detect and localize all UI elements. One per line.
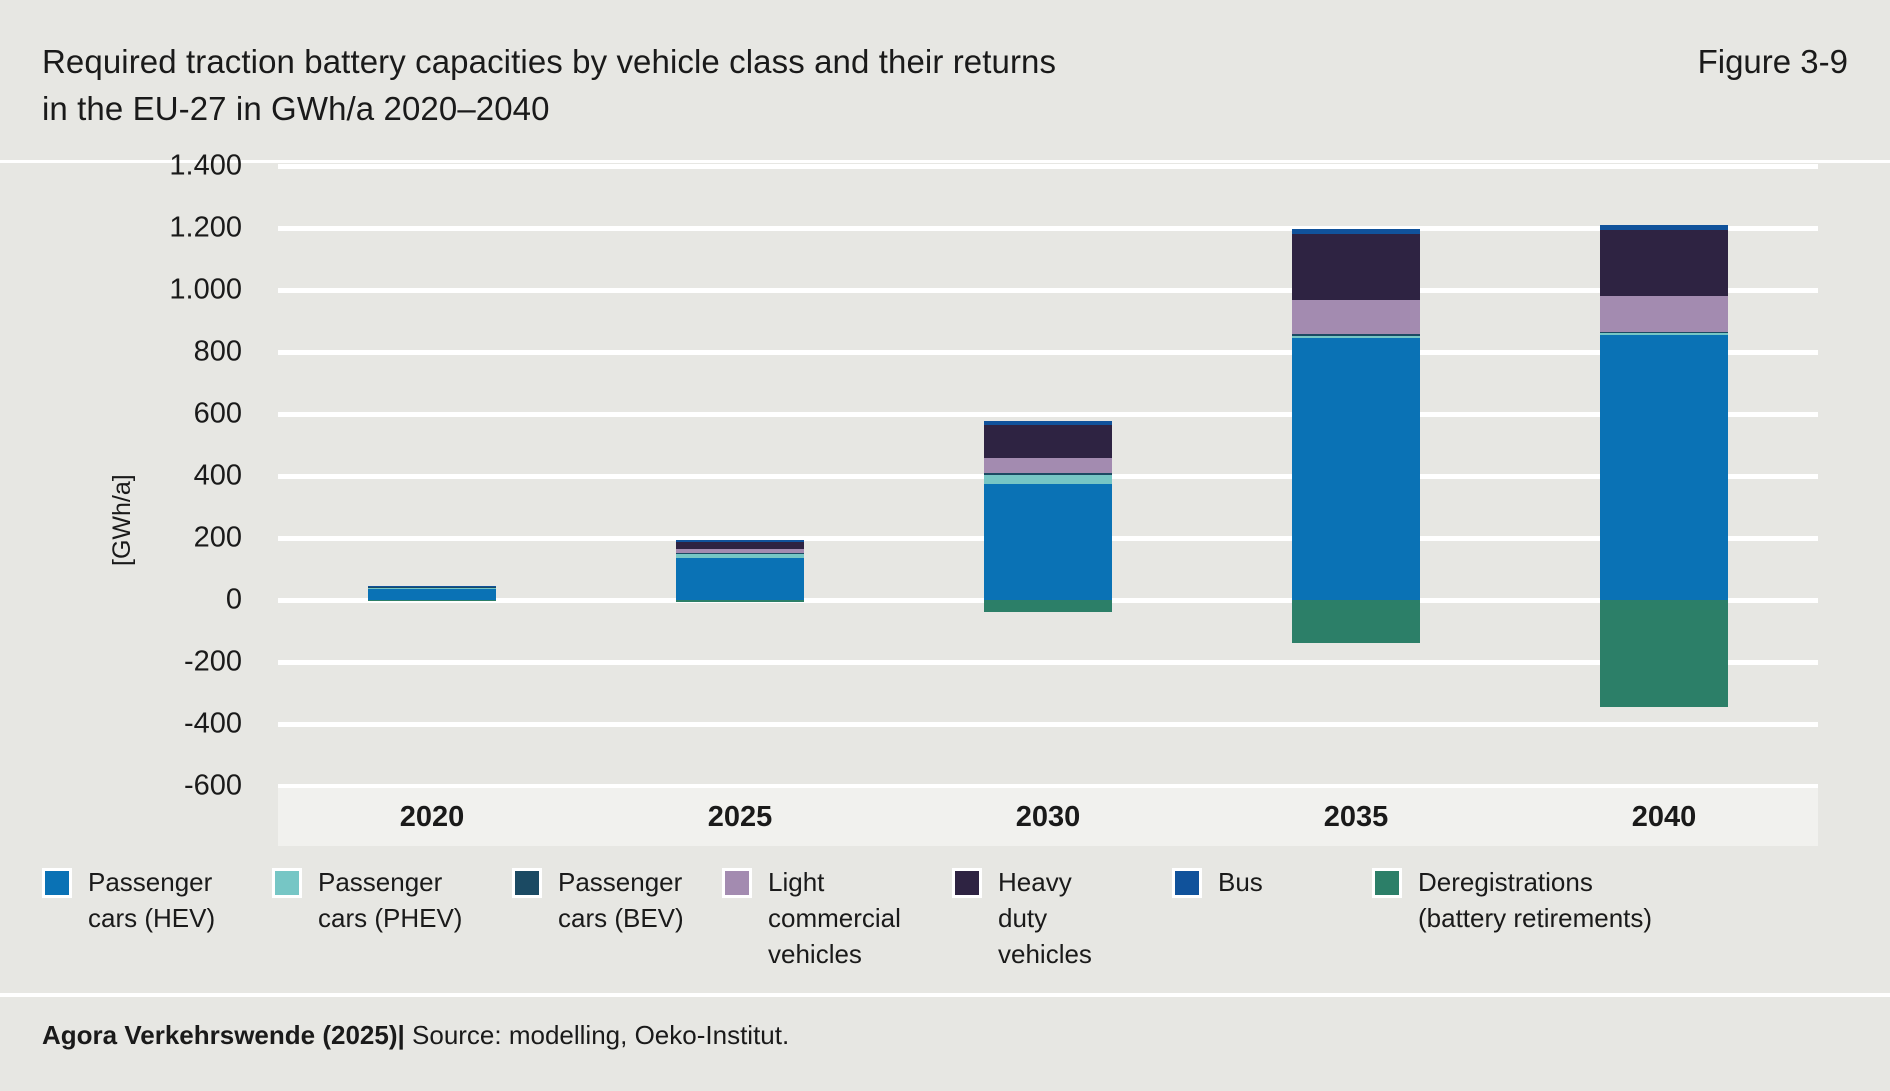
bar-segment	[368, 600, 496, 601]
bar-segment	[984, 421, 1112, 425]
y-tick-label: 1.200	[169, 212, 242, 245]
y-axis-ticks: 1.4001.2001.0008006004002000-200-400-600	[0, 166, 278, 786]
figure-number: Figure 3-9	[1698, 38, 1848, 85]
x-tick-label-2040: 2040	[1564, 801, 1764, 834]
bar-segment	[1600, 296, 1728, 332]
bar-group-2030	[984, 166, 1112, 786]
bar-group-2025	[676, 166, 804, 786]
source-separator: |	[398, 1020, 405, 1050]
bar-segment	[368, 587, 496, 588]
bar-segment	[368, 589, 496, 600]
y-tick-label: -600	[184, 770, 242, 803]
y-tick-label: -400	[184, 708, 242, 741]
x-axis: 20202025203020352040	[278, 788, 1818, 846]
y-tick-label: 1.400	[169, 150, 242, 183]
bar-segment	[1600, 332, 1728, 333]
bar-segment	[1600, 600, 1728, 707]
bar-segment	[984, 458, 1112, 474]
figure-page: Required traction battery capacities by …	[0, 0, 1890, 1091]
legend-item[interactable]: Passengercars (PHEV)	[272, 864, 462, 936]
figure-header: Required traction battery capacities by …	[0, 0, 1890, 163]
bar-segment	[676, 554, 804, 558]
bar-segment	[984, 475, 1112, 484]
source-text: Source: modelling, Oeko-Institut.	[412, 1020, 789, 1050]
title-line-2: in the EU-27 in GWh/a 2020–2040	[42, 85, 1342, 132]
bar-segment	[1292, 600, 1420, 643]
legend-item-label: Bus	[1218, 864, 1263, 900]
bar-segment	[984, 473, 1112, 475]
legend-item-label: Deregistrations(battery retirements)	[1418, 864, 1652, 936]
legend-swatch-icon	[42, 868, 72, 898]
bar-segment	[1600, 333, 1728, 335]
plot-area	[278, 166, 1818, 786]
bar-segment	[1292, 336, 1420, 338]
legend-item-label: Heavydutyvehicles	[998, 864, 1092, 972]
bar-group-2035	[1292, 166, 1420, 786]
footer-divider	[0, 993, 1890, 997]
bar-segment	[984, 425, 1112, 458]
legend-swatch-icon	[952, 868, 982, 898]
chart-legend: Passengercars (HEV)Passengercars (PHEV)P…	[0, 852, 1890, 987]
legend-item[interactable]: Bus	[1172, 864, 1263, 900]
legend-swatch-icon	[512, 868, 542, 898]
legend-swatch-icon	[1372, 868, 1402, 898]
bar-segment	[676, 600, 804, 602]
bar-segment	[676, 549, 804, 552]
legend-item[interactable]: Deregistrations(battery retirements)	[1372, 864, 1652, 936]
y-tick-label: 800	[194, 336, 242, 369]
bar-segment	[1600, 225, 1728, 229]
legend-item[interactable]: Heavydutyvehicles	[952, 864, 1092, 972]
bar-segment	[676, 553, 804, 555]
x-tick-label-2030: 2030	[948, 801, 1148, 834]
bar-segment	[1292, 229, 1420, 234]
bar-segment	[676, 558, 804, 600]
y-tick-label: -200	[184, 646, 242, 679]
bar-group-2020	[368, 166, 496, 786]
bar-segment	[1292, 338, 1420, 600]
source-note: Agora Verkehrswende (2025)| Source: mode…	[42, 1020, 789, 1051]
bar-segment	[1292, 300, 1420, 334]
title-line-1: Required traction battery capacities by …	[42, 38, 1342, 85]
bar-segment	[984, 600, 1112, 612]
x-tick-label-2020: 2020	[332, 801, 532, 834]
bar-segment	[676, 542, 804, 550]
legend-item-label: Passengercars (PHEV)	[318, 864, 462, 936]
bar-segment	[1600, 230, 1728, 297]
source-organisation: Agora Verkehrswende (2025)	[42, 1020, 398, 1050]
page-title: Required traction battery capacities by …	[42, 38, 1342, 132]
legend-swatch-icon	[722, 868, 752, 898]
legend-item[interactable]: Passengercars (BEV)	[512, 864, 684, 936]
legend-item-label: Passengercars (BEV)	[558, 864, 684, 936]
bar-segment	[1292, 234, 1420, 301]
bar-segment	[984, 484, 1112, 600]
legend-swatch-icon	[272, 868, 302, 898]
legend-item-label: Passengercars (HEV)	[88, 864, 215, 936]
y-tick-label: 0	[226, 584, 242, 617]
bar-segment	[1292, 334, 1420, 335]
legend-item[interactable]: Passengercars (HEV)	[42, 864, 215, 936]
y-tick-label: 200	[194, 522, 242, 555]
x-tick-label-2035: 2035	[1256, 801, 1456, 834]
y-tick-label: 1.000	[169, 274, 242, 307]
legend-item[interactable]: Lightcommercialvehicles	[722, 864, 901, 972]
chart-container: [GWh/a] 1.4001.2001.0008006004002000-200…	[0, 166, 1890, 846]
bar-group-2040	[1600, 166, 1728, 786]
legend-item-label: Lightcommercialvehicles	[768, 864, 901, 972]
y-tick-label: 600	[194, 398, 242, 431]
bar-segment	[1600, 335, 1728, 600]
bar-segment	[676, 540, 804, 542]
bar-segment	[368, 588, 496, 589]
x-tick-label-2025: 2025	[640, 801, 840, 834]
y-tick-label: 400	[194, 460, 242, 493]
legend-swatch-icon	[1172, 868, 1202, 898]
